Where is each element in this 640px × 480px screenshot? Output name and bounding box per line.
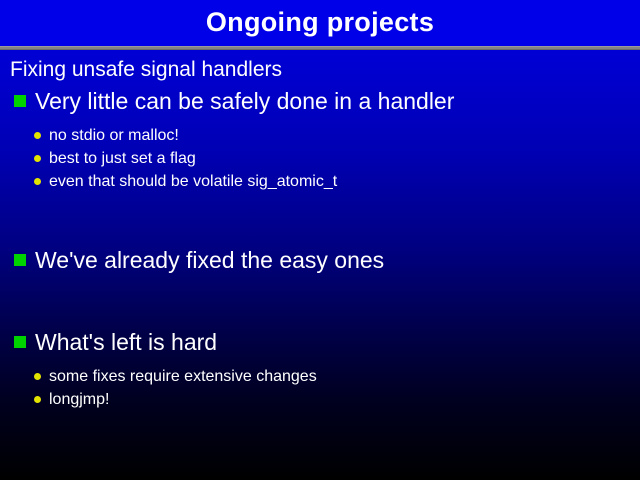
bullet-label: Very little can be safely done in a hand… <box>35 86 454 116</box>
slide-title: Ongoing projects <box>0 5 640 39</box>
spacer <box>0 357 640 365</box>
bullet-label: even that should be volatile sig_atomic_… <box>49 170 337 193</box>
bullet-item-level1: Very little can be safely done in a hand… <box>0 86 640 116</box>
bullet-label: no stdio or malloc! <box>49 124 179 147</box>
bullet-label: What's left is hard <box>35 327 217 357</box>
bullet-item-level0: Fixing unsafe signal handlers <box>0 56 640 84</box>
spacer <box>0 193 640 219</box>
dot-bullet-icon <box>34 396 41 403</box>
dot-bullet-icon <box>34 155 41 162</box>
bullet-item-level2: some fixes require extensive changes <box>0 365 640 388</box>
dot-bullet-icon <box>34 178 41 185</box>
square-bullet-icon <box>14 254 26 266</box>
square-bullet-icon <box>14 95 26 107</box>
bullet-label: We've already fixed the easy ones <box>35 245 384 275</box>
spacer <box>0 116 640 124</box>
spacer <box>0 219 640 245</box>
slide-title-bar: Ongoing projects <box>0 0 640 46</box>
spacer <box>0 301 640 327</box>
spacer <box>0 275 640 301</box>
bullet-item-level2: even that should be volatile sig_atomic_… <box>0 170 640 193</box>
bullet-label: best to just set a flag <box>49 147 196 170</box>
dot-bullet-icon <box>34 373 41 380</box>
bullet-item-level2: longjmp! <box>0 388 640 411</box>
bullet-label: Fixing unsafe signal handlers <box>10 56 282 84</box>
bullet-item-level2: no stdio or malloc! <box>0 124 640 147</box>
bullet-item-level2: best to just set a flag <box>0 147 640 170</box>
bullet-item-level1: We've already fixed the easy ones <box>0 245 640 275</box>
bullet-label: longjmp! <box>49 388 109 411</box>
bullet-item-level1: What's left is hard <box>0 327 640 357</box>
bullet-label: some fixes require extensive changes <box>49 365 317 388</box>
dot-bullet-icon <box>34 132 41 139</box>
square-bullet-icon <box>14 336 26 348</box>
presentation-slide: Ongoing projects Fixing unsafe signal ha… <box>0 0 640 480</box>
title-divider <box>0 46 640 50</box>
slide-body: Fixing unsafe signal handlers Very littl… <box>0 56 640 480</box>
